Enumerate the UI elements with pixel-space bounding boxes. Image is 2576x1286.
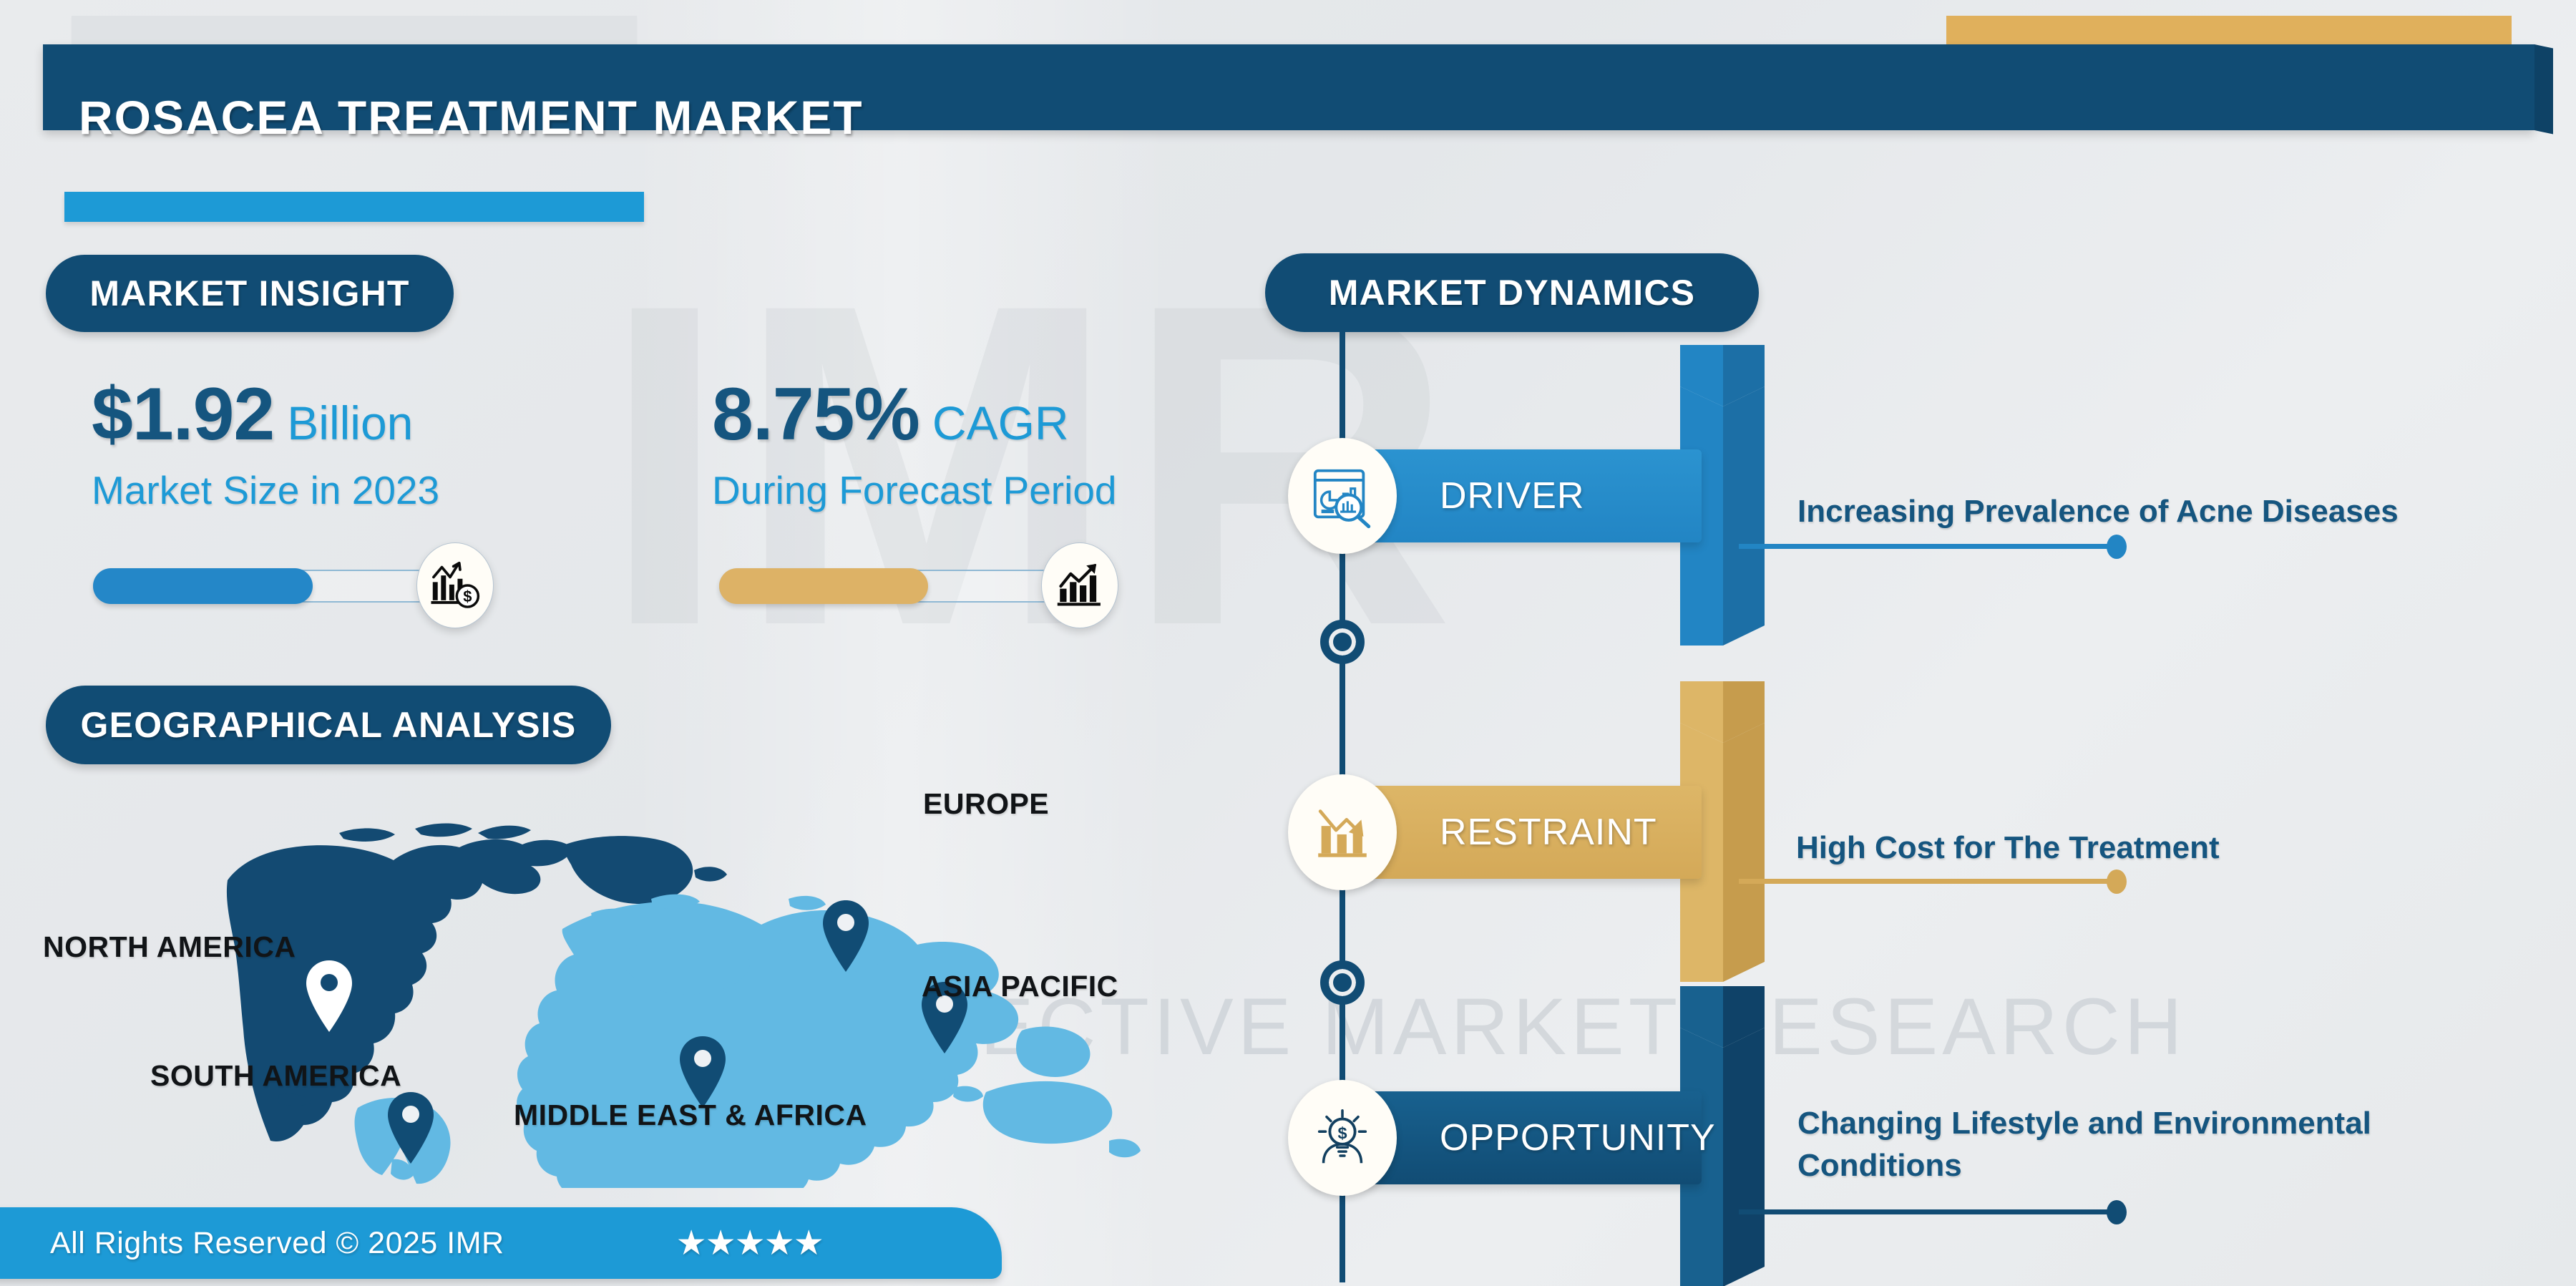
cagr-unit: CAGR <box>932 396 1069 450</box>
map-label-asia-pacific: ASIA PACIFIC <box>922 970 1118 1003</box>
market-size-unit: Billion <box>287 396 413 450</box>
page-title: ROSACEA TREATMENT MARKET <box>79 90 864 145</box>
driver-connector-line <box>1739 544 2118 549</box>
infographic-poster: IMR INTROSPECTIVE MARKET RESEARCH ROSACE… <box>0 0 2576 1286</box>
report-analysis-icon <box>1288 438 1397 554</box>
bar-chart-dollar-icon: $ <box>416 542 494 628</box>
badge-market-dynamics: MARKET DYNAMICS <box>1265 253 1759 332</box>
progress-fill <box>93 568 313 604</box>
header-ghost-strip <box>72 16 637 44</box>
footer-rating-stars: ★★★★★ <box>676 1223 823 1263</box>
progress-fill <box>719 568 928 604</box>
dynamics-label-restraint: RESTRAINT <box>1440 811 1657 854</box>
stat-market-size: $1.92Billion Market Size in 2023 <box>92 372 439 513</box>
timeline-node-2 <box>1320 960 1365 1005</box>
market-size-progress <box>93 565 472 607</box>
dynamics-bar-opportunity: $ OPPORTUNITY <box>1314 1091 1702 1184</box>
header-underline-accent <box>64 192 644 222</box>
map-label-north-america: NORTH AMERICA <box>43 930 296 964</box>
dynamics-text-driver: Increasing Prevalence of Acne Diseases <box>1797 490 2399 532</box>
market-size-value: $1.92 <box>92 372 274 457</box>
lightbulb-dollar-icon: $ <box>1288 1080 1397 1196</box>
svg-text:$: $ <box>463 588 472 605</box>
stat-cagr: 8.75%CAGR During Forecast Period <box>712 372 1117 513</box>
restraint-connector-line <box>1739 879 2118 884</box>
dynamics-bar-driver: DRIVER <box>1314 449 1702 542</box>
market-size-caption: Market Size in 2023 <box>92 467 439 513</box>
badge-market-insight: MARKET INSIGHT <box>46 255 454 332</box>
map-label-south-america: SOUTH AMERICA <box>150 1059 401 1093</box>
dynamics-text-opportunity: Changing Lifestyle and Environmental Con… <box>1797 1102 2371 1187</box>
dynamics-label-driver: DRIVER <box>1440 474 1584 517</box>
growth-arrow-chart-icon <box>1041 542 1118 628</box>
cagr-caption: During Forecast Period <box>712 467 1117 513</box>
header-gold-accent <box>1946 16 2512 46</box>
driver-connector-dot <box>2107 535 2127 559</box>
restraint-connector-dot <box>2107 869 2127 894</box>
dynamics-text-restraint: High Cost for The Treatment <box>1796 827 2220 869</box>
timeline-node-1 <box>1320 620 1365 664</box>
declining-bar-chart-icon <box>1288 774 1397 890</box>
badge-geographical-analysis: GEOGRAPHICAL ANALYSIS <box>46 686 611 764</box>
footer-copyright: All Rights Reserved © 2025 IMR <box>50 1226 504 1261</box>
opportunity-connector-line <box>1739 1209 2118 1214</box>
svg-text:$: $ <box>1337 1124 1347 1142</box>
opportunity-connector-dot <box>2107 1200 2127 1224</box>
cagr-value: 8.75% <box>712 372 919 457</box>
map-label-middle-east-africa: MIDDLE EAST & AFRICA <box>514 1099 867 1132</box>
dynamics-bar-restraint: RESTRAINT <box>1314 786 1702 879</box>
footer-bar: All Rights Reserved © 2025 IMR ★★★★★ <box>0 1207 1002 1279</box>
map-label-europe: EUROPE <box>923 787 1049 821</box>
dynamics-label-opportunity: OPPORTUNITY <box>1440 1116 1716 1159</box>
